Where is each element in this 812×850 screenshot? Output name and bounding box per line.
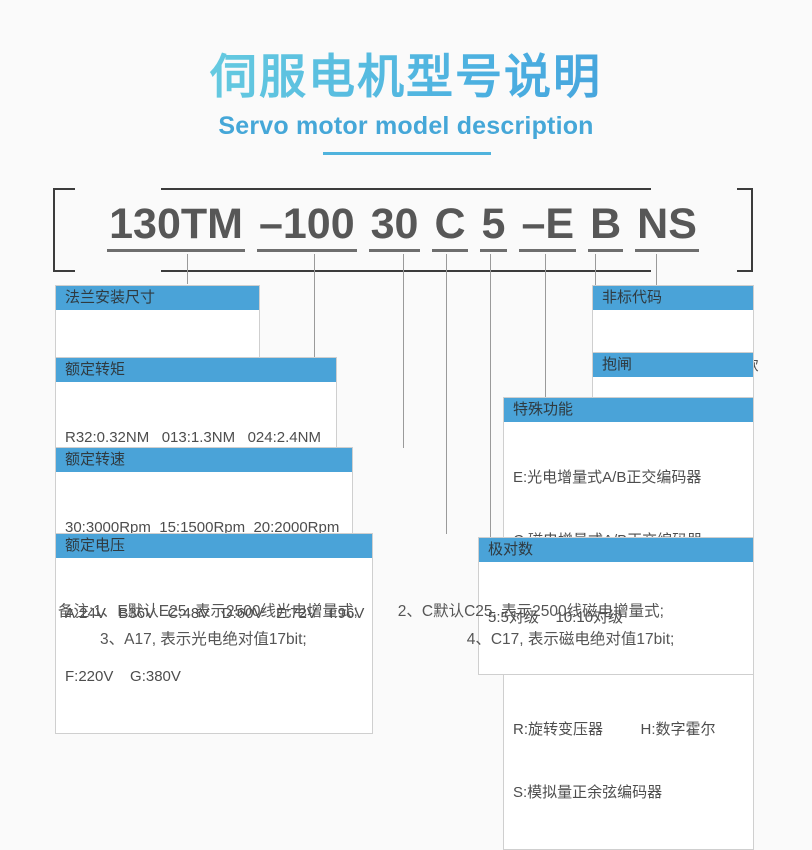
footer-note-3: 3、A17, 表示光电绝对值17bit;	[100, 631, 307, 648]
model-segment-torque: –100	[257, 199, 357, 252]
info-box-nonstandard-header: 非标代码	[593, 286, 753, 310]
page-title-english: Servo motor model description	[0, 112, 812, 141]
model-segment-speed: 30	[369, 199, 421, 252]
connector-voltage	[446, 254, 447, 534]
connector-pole-pairs	[490, 254, 491, 538]
frame-notch-top-right	[651, 185, 737, 190]
info-box-torque-header: 额定转矩	[56, 358, 336, 382]
connector-flange	[187, 254, 188, 284]
connector-nonstandard	[656, 254, 657, 286]
model-segment-special: –E	[519, 199, 576, 252]
frame-notch-bottom-left	[75, 268, 161, 274]
info-box-special-line-6: S:模拟量正余弦编码器	[513, 782, 744, 803]
diagram-canvas: 伺服电机型号说明 Servo motor model description 1…	[0, 0, 812, 687]
info-box-voltage-header: 额定电压	[56, 534, 372, 558]
model-segment-brake: B	[588, 199, 623, 252]
info-box-special-line-1: E:光电增量式A/B正交编码器	[513, 467, 744, 488]
frame-notch-top-left	[75, 185, 161, 190]
info-box-special-line-5: R:旋转变压器 H:数字霍尔	[513, 719, 744, 740]
footer-note-4: 4、C17, 表示磁电绝对值17bit;	[467, 631, 675, 648]
info-box-special-header: 特殊功能	[504, 398, 753, 422]
footer-notes: 备注:1、E默认E25, 表示2500线光电增量式;2、C默认C25, 表示25…	[0, 598, 812, 654]
model-segment-nonstandard: NS	[635, 199, 699, 252]
model-number-string: 130TM –100 30 C 5 –E B NS	[53, 199, 753, 261]
connector-torque	[314, 254, 315, 358]
footer-note-row-1: 备注:1、E默认E25, 表示2500线光电增量式;2、C默认C25, 表示25…	[0, 598, 812, 626]
model-segment-pole-pairs: 5	[480, 199, 508, 252]
connector-special	[545, 254, 546, 398]
model-segment-flange: 130TM	[107, 199, 245, 252]
title-underline-rule	[323, 152, 491, 155]
info-box-torque-line-1: R32:0.32NM 013:1.3NM 024:2.4NM	[65, 427, 327, 448]
info-box-pole-pairs-header: 极对数	[479, 538, 753, 562]
page-title-chinese: 伺服电机型号说明	[0, 48, 812, 106]
info-box-speed-header: 额定转速	[56, 448, 352, 472]
frame-notch-bottom-right	[651, 268, 737, 274]
connector-speed	[403, 254, 404, 448]
footer-note-2: 2、C默认C25, 表示2500线磁电增量式;	[398, 603, 664, 620]
info-box-flange-header: 法兰安装尺寸	[56, 286, 259, 310]
footer-note-row-2: 3、A17, 表示光电绝对值17bit;4、C17, 表示磁电绝对值17bit;	[0, 626, 812, 654]
info-box-voltage-line-2: F:220V G:380V	[65, 666, 363, 687]
footer-note-1: 备注:1、E默认E25, 表示2500线光电增量式;	[58, 603, 358, 620]
info-box-brake-header: 抱闸	[593, 353, 753, 377]
model-segment-voltage: C	[432, 199, 467, 252]
